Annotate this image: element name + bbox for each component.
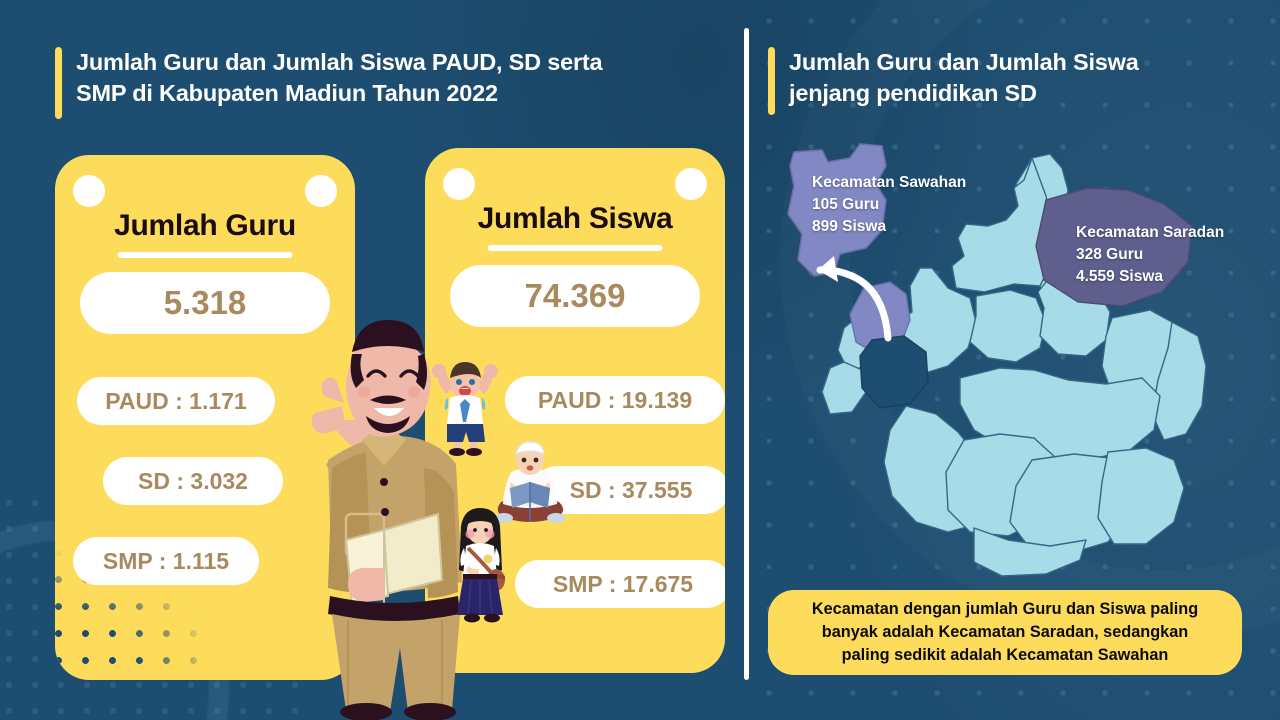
map-district-central[interactable] bbox=[970, 290, 1046, 362]
left-panel-title: Jumlah Guru dan Jumlah Siswa PAUD, SD se… bbox=[55, 47, 715, 119]
map-district-southeast[interactable] bbox=[1098, 448, 1184, 544]
map-district-west-lower[interactable] bbox=[822, 362, 866, 414]
siswa-total-value: 74.369 bbox=[450, 265, 700, 327]
stat-card-jumlah-guru: Jumlah Guru 5.318 PAUD : 1.171 SD : 3.03… bbox=[55, 155, 355, 680]
guru-sd-value: SD : 3.032 bbox=[103, 457, 283, 505]
map-label-sawahan: Kecamatan Sawahan 105 Guru 899 Siswa bbox=[812, 172, 966, 238]
card-heading: Jumlah Guru bbox=[55, 209, 355, 243]
map-caption-box: Kecamatan dengan jumlah Guru dan Siswa p… bbox=[768, 590, 1242, 675]
guru-paud-value: PAUD : 1.171 bbox=[77, 377, 275, 425]
card-punch-hole-left bbox=[73, 175, 105, 207]
siswa-sd-value: SD : 37.555 bbox=[533, 466, 725, 514]
siswa-smp-value: SMP : 17.675 bbox=[515, 560, 725, 608]
right-panel-title-text: Jumlah Guru dan Jumlah Siswa jenjang pen… bbox=[789, 47, 1139, 110]
stat-card-jumlah-siswa: Jumlah Siswa 74.369 PAUD : 19.139 SD : 3… bbox=[425, 148, 725, 673]
card-heading: Jumlah Siswa bbox=[425, 202, 725, 236]
title-accent-bar-right bbox=[768, 47, 775, 115]
left-panel-title-text: Jumlah Guru dan Jumlah Siswa PAUD, SD se… bbox=[76, 47, 602, 110]
title-accent-bar-left bbox=[55, 47, 62, 119]
card-punch-hole-left bbox=[443, 168, 475, 200]
map-district-dark-highlight[interactable] bbox=[860, 336, 928, 408]
card-punch-hole-right bbox=[305, 175, 337, 207]
map-district-northwest[interactable] bbox=[952, 158, 1050, 292]
card-punch-hole-right bbox=[675, 168, 707, 200]
card-heading-underline bbox=[488, 245, 663, 251]
right-panel-title: Jumlah Guru dan Jumlah Siswa jenjang pen… bbox=[768, 47, 1238, 115]
siswa-paud-value: PAUD : 19.139 bbox=[505, 376, 725, 424]
guru-total-value: 5.318 bbox=[80, 272, 330, 334]
vertical-divider bbox=[744, 28, 749, 680]
card-heading-underline bbox=[118, 252, 293, 258]
guru-smp-value: SMP : 1.115 bbox=[73, 537, 259, 585]
map-label-saradan: Kecamatan Saradan 328 Guru 4.559 Siswa bbox=[1076, 222, 1224, 288]
